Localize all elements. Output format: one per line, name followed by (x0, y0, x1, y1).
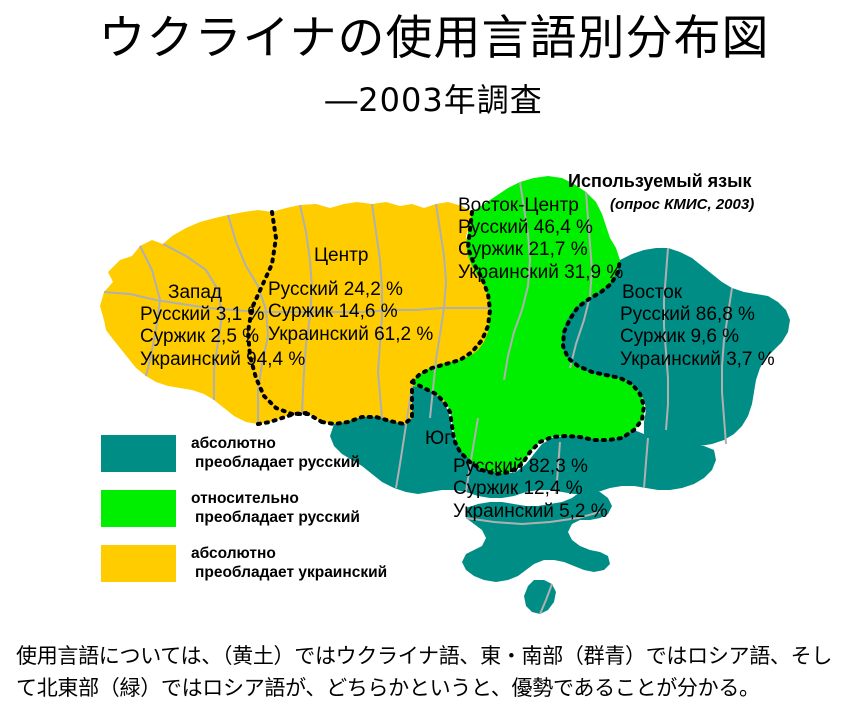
legend-label-russian-relative: относительно преобладает русский (191, 490, 360, 528)
figure-caption: 使用言語については、（黄土）ではウクライナ語、東・南部（群青）ではロシア語、そし… (16, 641, 856, 704)
legend-label-line1: абсолютно (191, 545, 276, 562)
region-stat-centr-russian: Русский 24,2 % (268, 279, 433, 301)
region-stat-centr-surzhyk: Суржик 14,6 % (268, 301, 433, 323)
region-stat-yug-ukrainian: Украинский 5,2 % (453, 501, 608, 523)
region-stat-vostok-russian: Русский 86,8 % (620, 304, 775, 326)
legend-label-line2: преобладает русский (191, 454, 360, 473)
region-label-yug: Юг Русский 82,3 % Суржик 12,4 % Украинск… (425, 428, 608, 523)
legend-label-line2: преобладает украинский (191, 564, 387, 583)
region-stat-vostok-centr-ukrainian: Украинский 31,9 % (458, 262, 623, 284)
legend-item-russian-relative: относительно преобладает русский (101, 490, 387, 528)
legend-label-line1: абсолютно (191, 435, 276, 452)
region-label-vostok: Восток Русский 86,8 % Суржик 9,6 % Украи… (620, 282, 775, 371)
region-stat-vostok-surzhyk: Суржик 9,6 % (620, 326, 775, 348)
caption-line-1: 使用言語については、（黄土）ではウクライナ語、東・南部（群青）ではロシア語、そし (16, 641, 856, 673)
region-name-vostok-centr: Восток-Центр (458, 195, 623, 217)
legend-item-russian-absolute: абсолютно преобладает русский (101, 435, 387, 473)
page-title: ウクライナの使用言語別分布図 (0, 14, 868, 63)
region-name-centr: Центр (314, 245, 433, 267)
caption-line-2: て北東部（緑）ではロシア語が、どちらかというと、優勢であることが分かる。 (16, 673, 856, 705)
legend-swatch-russian-relative (101, 490, 176, 527)
region-stat-yug-surzhyk: Суржик 12,4 % (453, 478, 608, 500)
legend-label-ukrainian-absolute: абсолютно преобладает украинский (191, 545, 387, 583)
legend-heading-title: Используемый язык (568, 171, 752, 192)
region-stat-yug-russian: Русский 82,3 % (453, 456, 608, 478)
legend-swatch-russian-absolute (101, 435, 176, 472)
legend-swatch-ukrainian-absolute (101, 545, 176, 582)
region-stat-vostok-centr-surzhyk: Суржик 21,7 % (458, 239, 623, 261)
region-stat-zapad-ukrainian: Украинский 94,4 % (140, 349, 305, 371)
map-legend: абсолютно преобладает русский относитель… (101, 435, 387, 599)
legend-item-ukrainian-absolute: абсолютно преобладает украинский (101, 545, 387, 583)
region-label-centr: Центр Русский 24,2 % Суржик 14,6 % Украи… (268, 245, 433, 346)
region-stat-centr-ukrainian: Украинский 61,2 % (268, 324, 433, 346)
map-stage: Запад Русский 3,1 % Суржик 2,5 % Украинс… (0, 160, 868, 635)
region-name-yug: Юг (425, 428, 608, 450)
legend-label-russian-absolute: абсолютно преобладает русский (191, 435, 360, 473)
legend-heading-source: (опрос КМИС, 2003) (610, 196, 754, 213)
page-subtitle: ―2003年調査 (0, 75, 868, 121)
title-block: ウクライナの使用言語別分布図 ―2003年調査 (0, 0, 868, 121)
region-name-vostok: Восток (622, 282, 775, 304)
legend-label-line2: преобладает русский (191, 509, 360, 528)
region-stat-vostok-ukrainian: Украинский 3,7 % (620, 349, 775, 371)
region-label-vostok-centr: Восток-Центр Русский 46,4 % Суржик 21,7 … (458, 195, 623, 284)
legend-label-line1: относительно (191, 490, 299, 507)
region-stat-vostok-centr-russian: Русский 46,4 % (458, 217, 623, 239)
